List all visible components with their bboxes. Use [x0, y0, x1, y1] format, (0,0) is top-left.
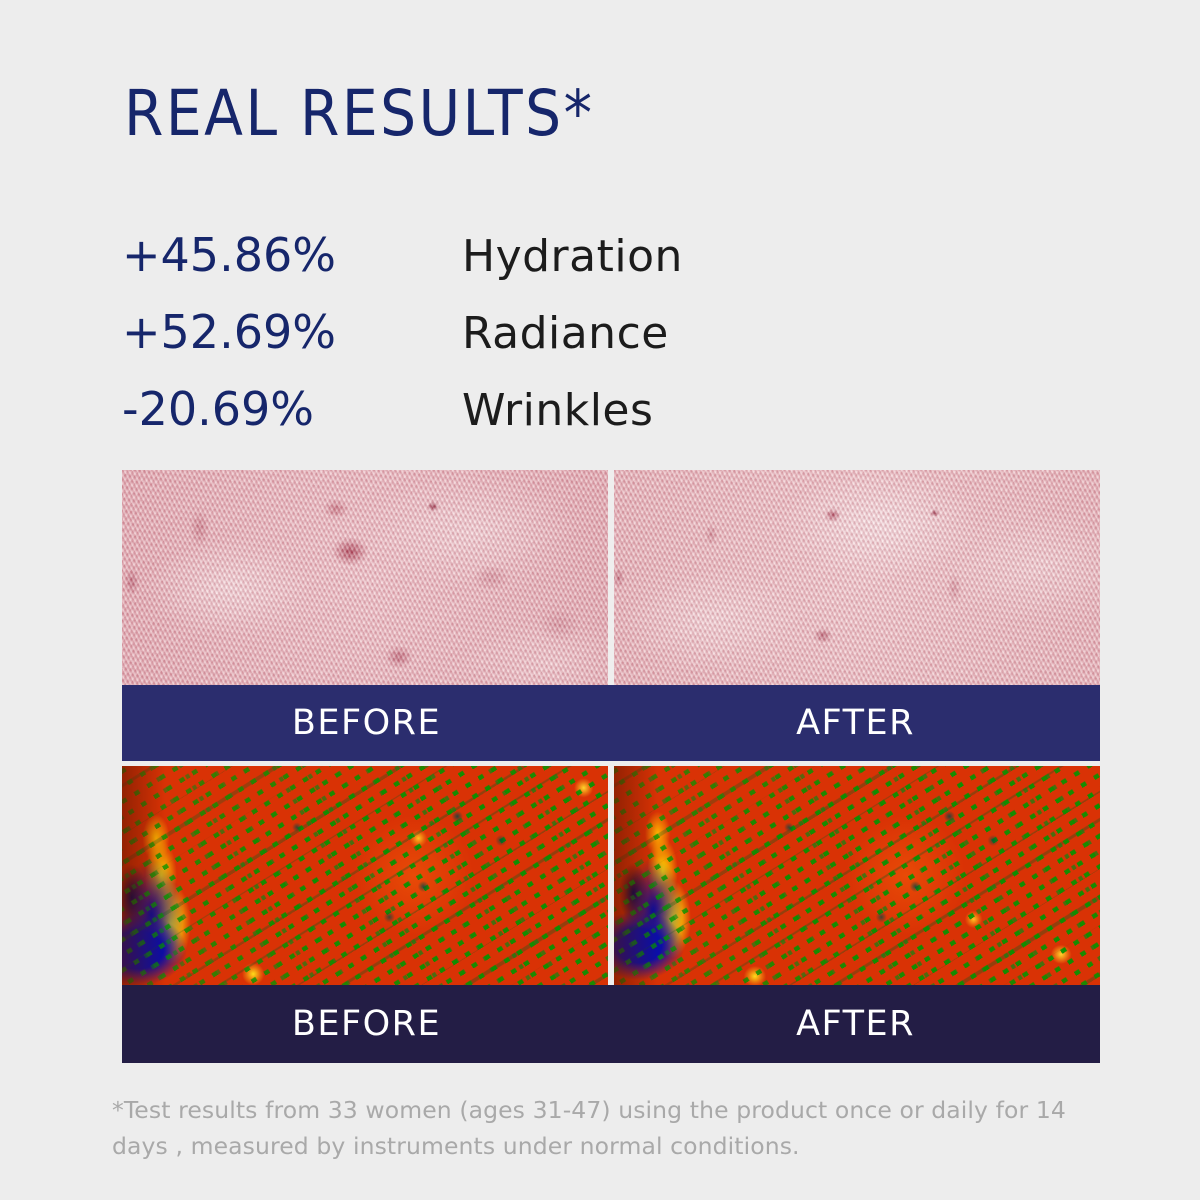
- stat-row: +52.69% Radiance: [122, 305, 822, 382]
- caption-before: BEFORE: [122, 985, 611, 1063]
- thermal-map-after: [614, 766, 1100, 985]
- after-image-thermal: [614, 766, 1100, 985]
- texture-grain-overlay: [614, 470, 1100, 685]
- stat-value: -20.69%: [122, 382, 462, 436]
- caption-bar-thermal: BEFORE AFTER: [122, 985, 1100, 1063]
- panel-divider: [608, 470, 614, 685]
- stat-value: +52.69%: [122, 305, 462, 359]
- thermal-edge-shadow: [614, 766, 1100, 985]
- thermal-edge-shadow: [122, 766, 608, 985]
- before-image-skin: [122, 470, 608, 685]
- stat-label: Radiance: [462, 308, 669, 359]
- caption-bar-skin: BEFORE AFTER: [122, 685, 1100, 761]
- footnote-disclaimer: *Test results from 33 women (ages 31-47)…: [112, 1092, 1097, 1165]
- stats-list: +45.86% Hydration +52.69% Radiance -20.6…: [122, 228, 822, 459]
- stat-value: +45.86%: [122, 228, 462, 282]
- stat-label: Hydration: [462, 231, 683, 282]
- after-image-skin: [614, 470, 1100, 685]
- page-title: REAL RESULTS*: [124, 82, 595, 145]
- caption-before: BEFORE: [122, 685, 611, 761]
- stat-row: +45.86% Hydration: [122, 228, 822, 305]
- image-pair: [122, 470, 1100, 685]
- image-pair: [122, 766, 1100, 985]
- comparison-thermal-map: BEFORE AFTER: [122, 766, 1100, 1063]
- thermal-map-before: [122, 766, 608, 985]
- comparison-skin-closeup: BEFORE AFTER: [122, 470, 1100, 761]
- caption-after: AFTER: [611, 685, 1100, 761]
- stat-row: -20.69% Wrinkles: [122, 382, 822, 459]
- before-image-thermal: [122, 766, 608, 985]
- results-page: REAL RESULTS* +45.86% Hydration +52.69% …: [0, 0, 1200, 1200]
- caption-after: AFTER: [611, 985, 1100, 1063]
- panel-divider: [608, 766, 614, 985]
- stat-label: Wrinkles: [462, 385, 653, 436]
- texture-grain-overlay: [122, 470, 608, 685]
